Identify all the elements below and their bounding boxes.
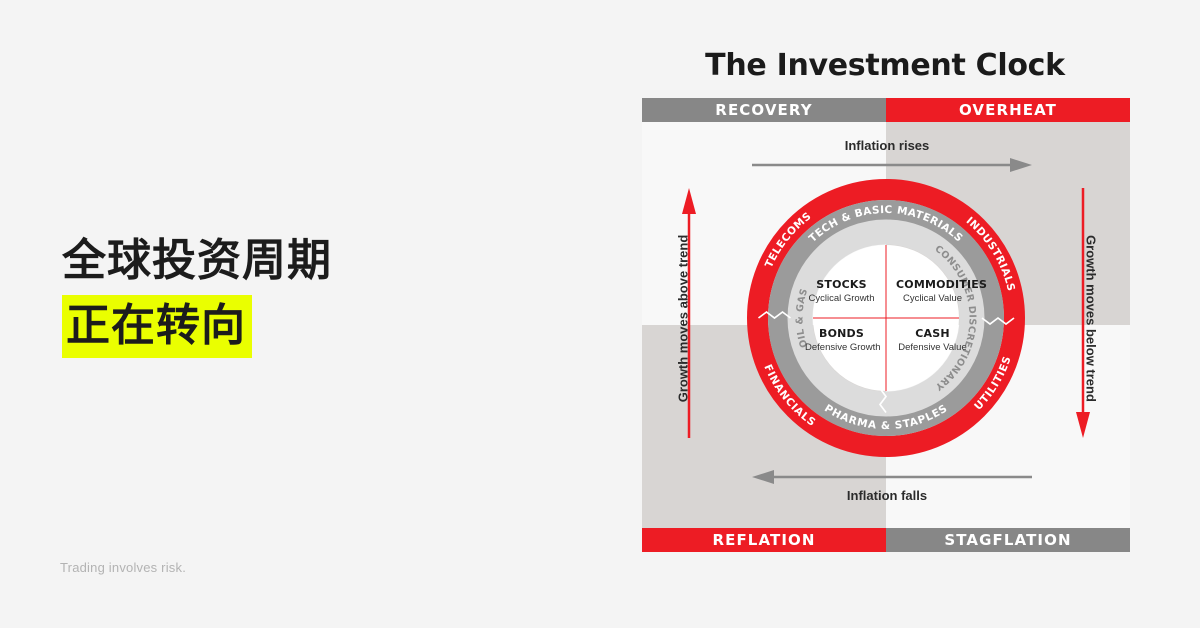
phase-label-recovery: RECOVERY	[642, 98, 886, 122]
axis-label-growth-above-trend: Growth moves above trend	[676, 194, 691, 444]
left-content-panel: 全球投资周期 正在转向 Trading involves risk.	[0, 0, 640, 628]
center-cell-bonds-title: BONDS	[805, 327, 878, 340]
center-cell-stocks-desc: Cyclical Growth	[805, 293, 878, 304]
phase-label-reflation: REFLATION	[642, 528, 886, 552]
chart-title: The Investment Clock	[640, 48, 1130, 83]
axis-label-growth-below-trend: Growth moves below trend	[1084, 194, 1099, 444]
headline-block: 全球投资周期 正在转向	[62, 232, 582, 358]
center-cell-stocks: STOCKS Cyclical Growth	[805, 278, 878, 304]
headline-line-2-highlight: 正在转向	[62, 295, 252, 358]
center-cell-bonds: BONDS Defensive Growth	[805, 327, 878, 353]
axis-label-inflation-rises: Inflation rises	[762, 138, 1012, 153]
center-cell-commodities: COMMODITIES Cyclical Value	[896, 278, 969, 304]
phase-label-stagflation: STAGFLATION	[886, 528, 1130, 552]
center-cell-bonds-desc: Defensive Growth	[805, 342, 878, 353]
center-cell-cash-desc: Defensive Value	[896, 342, 969, 353]
center-cell-commodities-title: COMMODITIES	[896, 278, 969, 291]
investment-clock-diagram: RECOVERY OVERHEAT REFLATION STAGFLATION …	[642, 98, 1130, 552]
center-asset-quadrants: STOCKS Cyclical Growth COMMODITIES Cycli…	[814, 246, 960, 392]
arrow-inflation-rises-icon	[752, 158, 1032, 172]
disclaimer-text: Trading involves risk.	[60, 560, 186, 575]
axis-label-inflation-falls: Inflation falls	[762, 488, 1012, 503]
headline-line-1: 全球投资周期	[62, 232, 582, 289]
center-cell-stocks-title: STOCKS	[805, 278, 878, 291]
center-cell-commodities-desc: Cyclical Value	[896, 293, 969, 304]
diagram-panel: The Investment Clock RECOVERY OVERHEAT R…	[640, 0, 1200, 628]
headline-line-2-wrapper: 正在转向	[62, 295, 582, 358]
arrow-inflation-falls-icon	[752, 470, 1032, 484]
center-cell-cash-title: CASH	[896, 327, 969, 340]
center-cell-cash: CASH Defensive Value	[896, 327, 969, 353]
phase-label-overheat: OVERHEAT	[886, 98, 1130, 122]
